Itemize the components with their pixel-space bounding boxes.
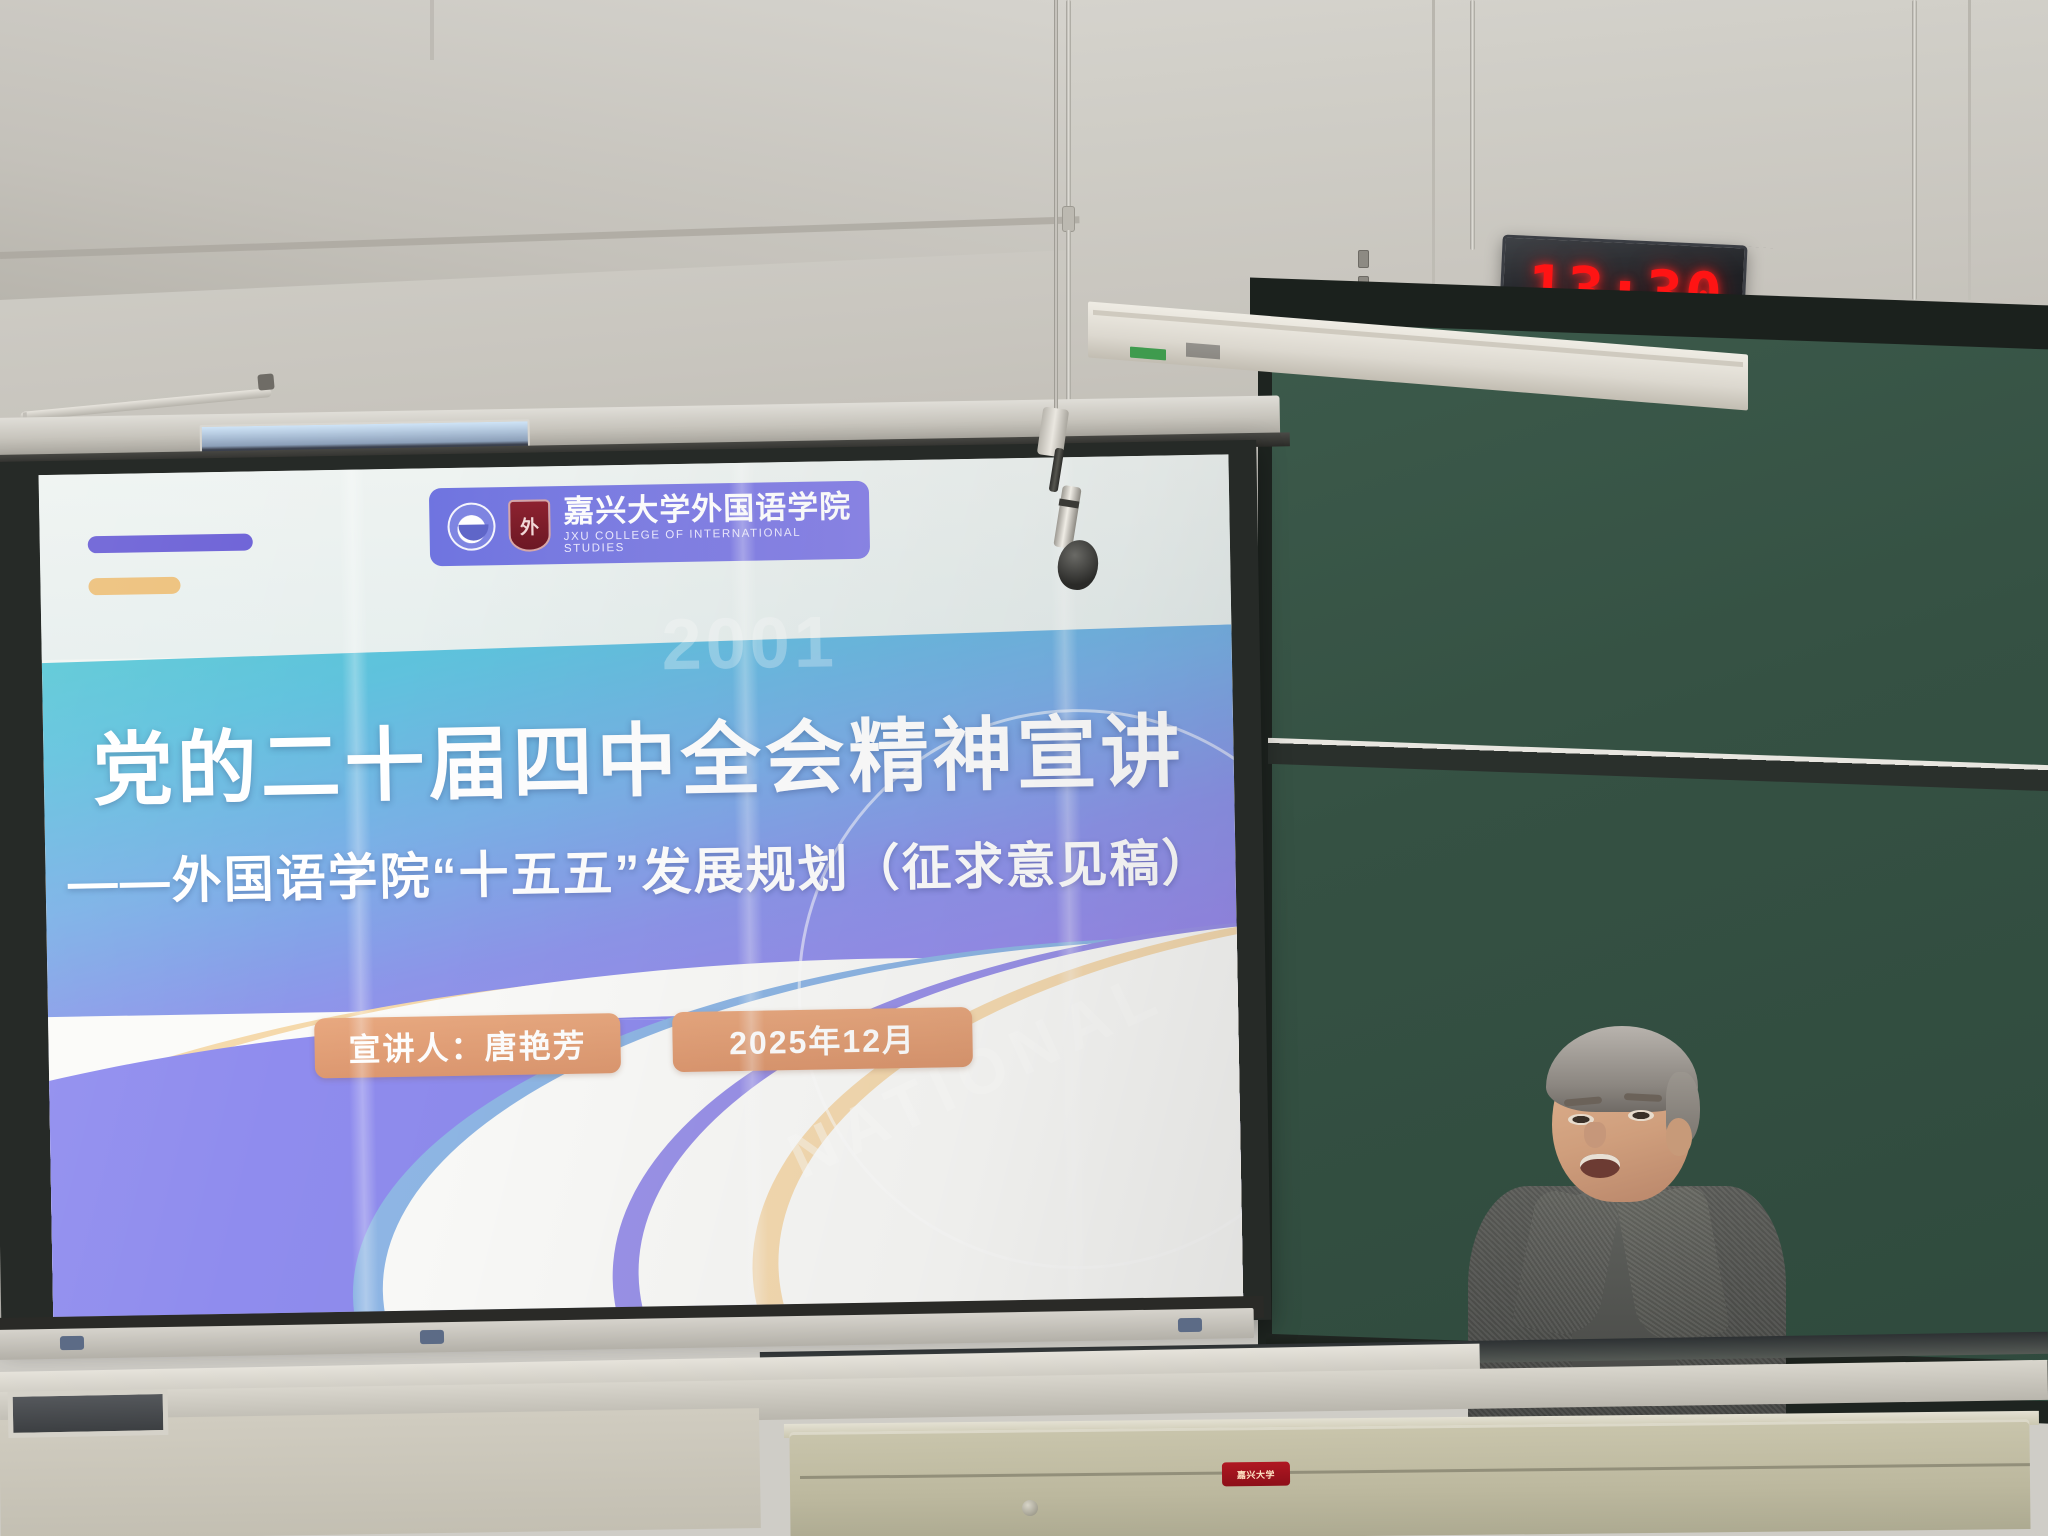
logo-name-cn: 嘉兴大学外国语学院 [563,490,852,528]
ceiling-soffit [0,0,1070,300]
presenter-mouth [1580,1154,1620,1178]
ceiling-rod-right [1470,0,1475,250]
slide-pill-speaker: 宣讲人：唐艳芳 [314,1013,621,1078]
screen-clip-left [60,1336,84,1350]
lectern-cabinet [789,1419,2030,1536]
slide-watermark-number: 2001 [661,601,839,686]
lecture-hall-photo: 13:30 59 星期 4 2025 12 18 [0,0,2048,1536]
light-fixture-text-label [1186,343,1220,360]
ceiling-rod-left-lower [1066,230,1071,420]
ceiling-seam [430,0,434,60]
wall-pipe-end-cap [257,373,274,390]
decorative-bar-tan [88,577,180,596]
screen-clip-mid [420,1330,444,1344]
college-shield-icon: 外 [508,499,551,552]
ceiling-rod-far-right [1912,0,1917,300]
wall-seam-far-right [1968,0,1971,300]
screen-clip-right [1178,1318,1202,1332]
logo-name-en: JXU COLLEGE OF INTERNATIONAL STUDIES [564,526,852,555]
ceiling-rod-left [1066,0,1071,210]
logo-text-block: 嘉兴大学外国语学院 JXU COLLEGE OF INTERNATIONAL S… [563,490,852,555]
low-wall-window [8,1389,169,1438]
slide-pill-date: 2025年12月 [672,1007,973,1072]
presenter-ear [1666,1118,1692,1156]
slide-decorative-bars [88,533,254,595]
slide-title: 党的二十届四中全会精神宣讲 [43,686,1235,823]
presenter-eye-right [1628,1110,1654,1121]
decorative-bar-purple [88,533,253,553]
university-seal-icon [447,502,496,551]
microphone-cable [1054,0,1058,415]
college-logo-badge: 外 嘉兴大学外国语学院 JXU COLLEGE OF INTERNATIONAL… [429,481,870,567]
lectern-lock-icon [1022,1500,1038,1516]
lectern-brand-sticker: 嘉兴大学 [1222,1462,1290,1487]
ceiling-rod-joint [1062,206,1075,232]
presenter-nose [1584,1122,1606,1148]
